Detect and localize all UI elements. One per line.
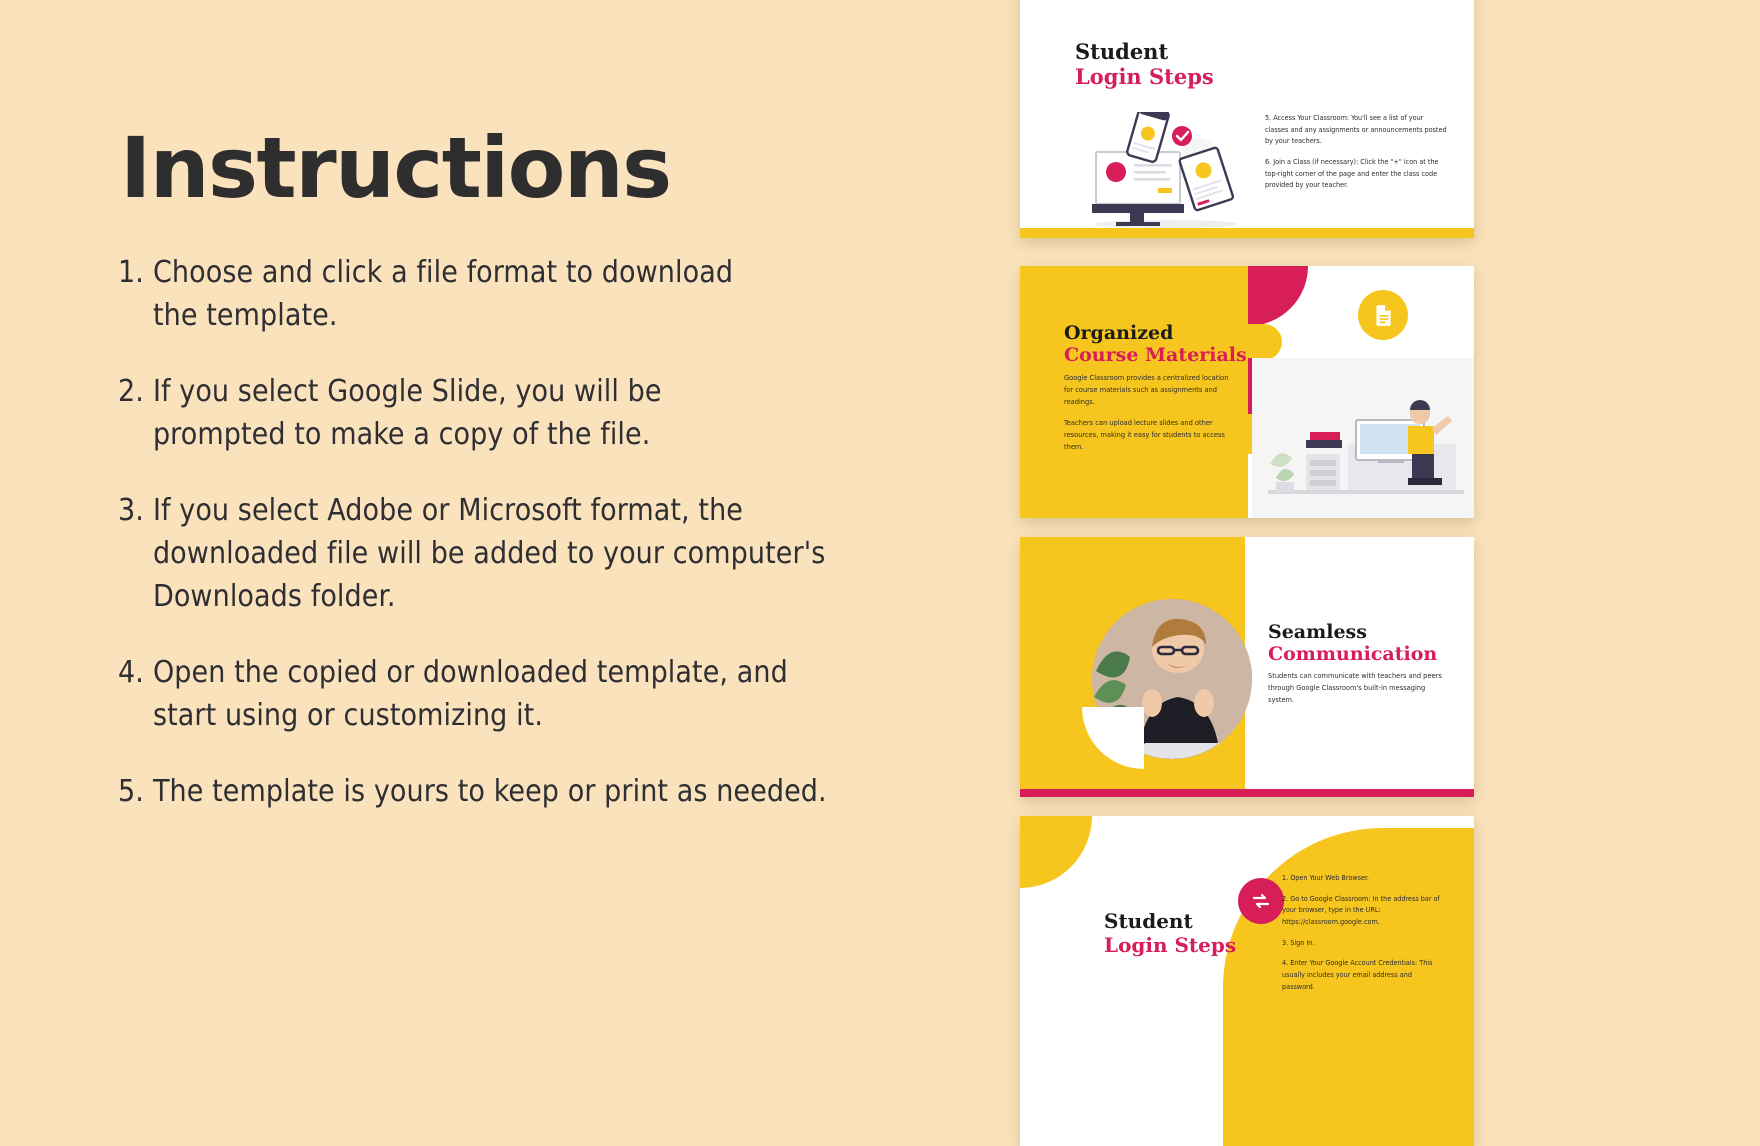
slide-title-line1: Organized <box>1064 322 1247 344</box>
slide-body-paragraph: 6. Join a Class (if necessary): Click th… <box>1265 156 1447 191</box>
list-item: 5. The template is yours to keep or prin… <box>118 771 948 814</box>
slide-body-paragraph: Google Classroom provides a centralized … <box>1064 372 1234 408</box>
list-item-number: 5. <box>118 771 144 814</box>
slide-title-line2: Course Materials <box>1064 344 1247 366</box>
slide-preview-seamless-communication[interactable]: Seamless Communication Students can comm… <box>1020 537 1474 797</box>
slide-body-paragraph: 1. Open Your Web Browser. <box>1282 872 1442 884</box>
list-item: 4. Open the copied or downloaded templat… <box>118 652 948 737</box>
slide-body-text: Students can communicate with teachers a… <box>1268 670 1446 706</box>
slide-body-text: Google Classroom provides a centralized … <box>1064 372 1234 462</box>
slide-body-paragraph: 4. Enter Your Google Account Credentials… <box>1282 957 1442 992</box>
slide-title-line2: Login Steps <box>1104 934 1236 958</box>
slide-title-line1: Student <box>1075 40 1214 65</box>
list-item-number: 1. <box>118 252 144 337</box>
instructions-panel: Instructions 1. Choose and click a file … <box>0 0 1020 1140</box>
slide-preview-student-login-steps-bottom[interactable]: Student Login Steps 1. Open Your Web Bro… <box>1020 816 1474 1146</box>
slide-title-line2: Login Steps <box>1075 65 1214 90</box>
list-item-text: If you select Google Slide, you will be … <box>153 371 948 456</box>
slide-body-text: 5. Access Your Classroom: You'll see a l… <box>1265 112 1447 200</box>
list-item: 3. If you select Adobe or Microsoft form… <box>118 490 948 618</box>
list-item-text: Choose and click a file format to downlo… <box>153 252 948 337</box>
list-item-number: 3. <box>118 490 144 618</box>
slide-title: Organized Course Materials <box>1064 322 1247 367</box>
decorative-yellow-corner-shape <box>1020 816 1092 888</box>
decorative-pink-blob <box>1248 266 1308 326</box>
slide-title-line1: Student <box>1104 910 1236 934</box>
decorative-yellow-lobe <box>1248 324 1282 360</box>
page-title: Instructions <box>120 126 671 210</box>
slide-body-text: 1. Open Your Web Browser. 2. Go to Googl… <box>1282 872 1442 1001</box>
slide-body-paragraph: Students can communicate with teachers a… <box>1268 670 1446 706</box>
slide-title-line1: Seamless <box>1268 621 1437 643</box>
desktop-documents-illustration <box>1078 112 1254 228</box>
slide-accent-bar-pink <box>1020 789 1474 797</box>
slide-preview-student-login-steps-top[interactable]: Student Login Steps <box>1020 0 1474 238</box>
slide-title: Student Login Steps <box>1104 910 1236 957</box>
list-item-text: Open the copied or downloaded template, … <box>153 652 948 737</box>
list-item: 1. Choose and click a file format to dow… <box>118 252 948 337</box>
slide-preview-organized-course-materials[interactable]: Organized Course Materials Google Classr… <box>1020 266 1474 518</box>
slide-title: Student Login Steps <box>1075 40 1214 90</box>
refresh-loop-icon <box>1238 878 1284 924</box>
slide-body-paragraph: 3. Sign In. <box>1282 937 1442 949</box>
list-item-text: The template is yours to keep or print a… <box>153 771 948 814</box>
list-item-text: If you select Adobe or Microsoft format,… <box>153 490 948 618</box>
slide-body-paragraph: 2. Go to Google Classroom: In the addres… <box>1282 893 1442 928</box>
document-icon <box>1358 290 1408 340</box>
slide-title-line2: Communication <box>1268 643 1437 665</box>
slide-previews-column: Student Login Steps <box>1020 0 1760 1140</box>
student-at-desk-illustration <box>1252 358 1474 518</box>
slide-body-paragraph: Teachers can upload lecture slides and o… <box>1064 417 1234 453</box>
list-item: 2. If you select Google Slide, you will … <box>118 371 948 456</box>
slide-title: Seamless Communication <box>1268 621 1437 666</box>
list-item-number: 2. <box>118 371 144 456</box>
instructions-list: 1. Choose and click a file format to dow… <box>118 252 948 848</box>
slide-body-paragraph: 5. Access Your Classroom: You'll see a l… <box>1265 112 1447 147</box>
list-item-number: 4. <box>118 652 144 737</box>
slide-accent-bar-yellow <box>1020 228 1474 238</box>
